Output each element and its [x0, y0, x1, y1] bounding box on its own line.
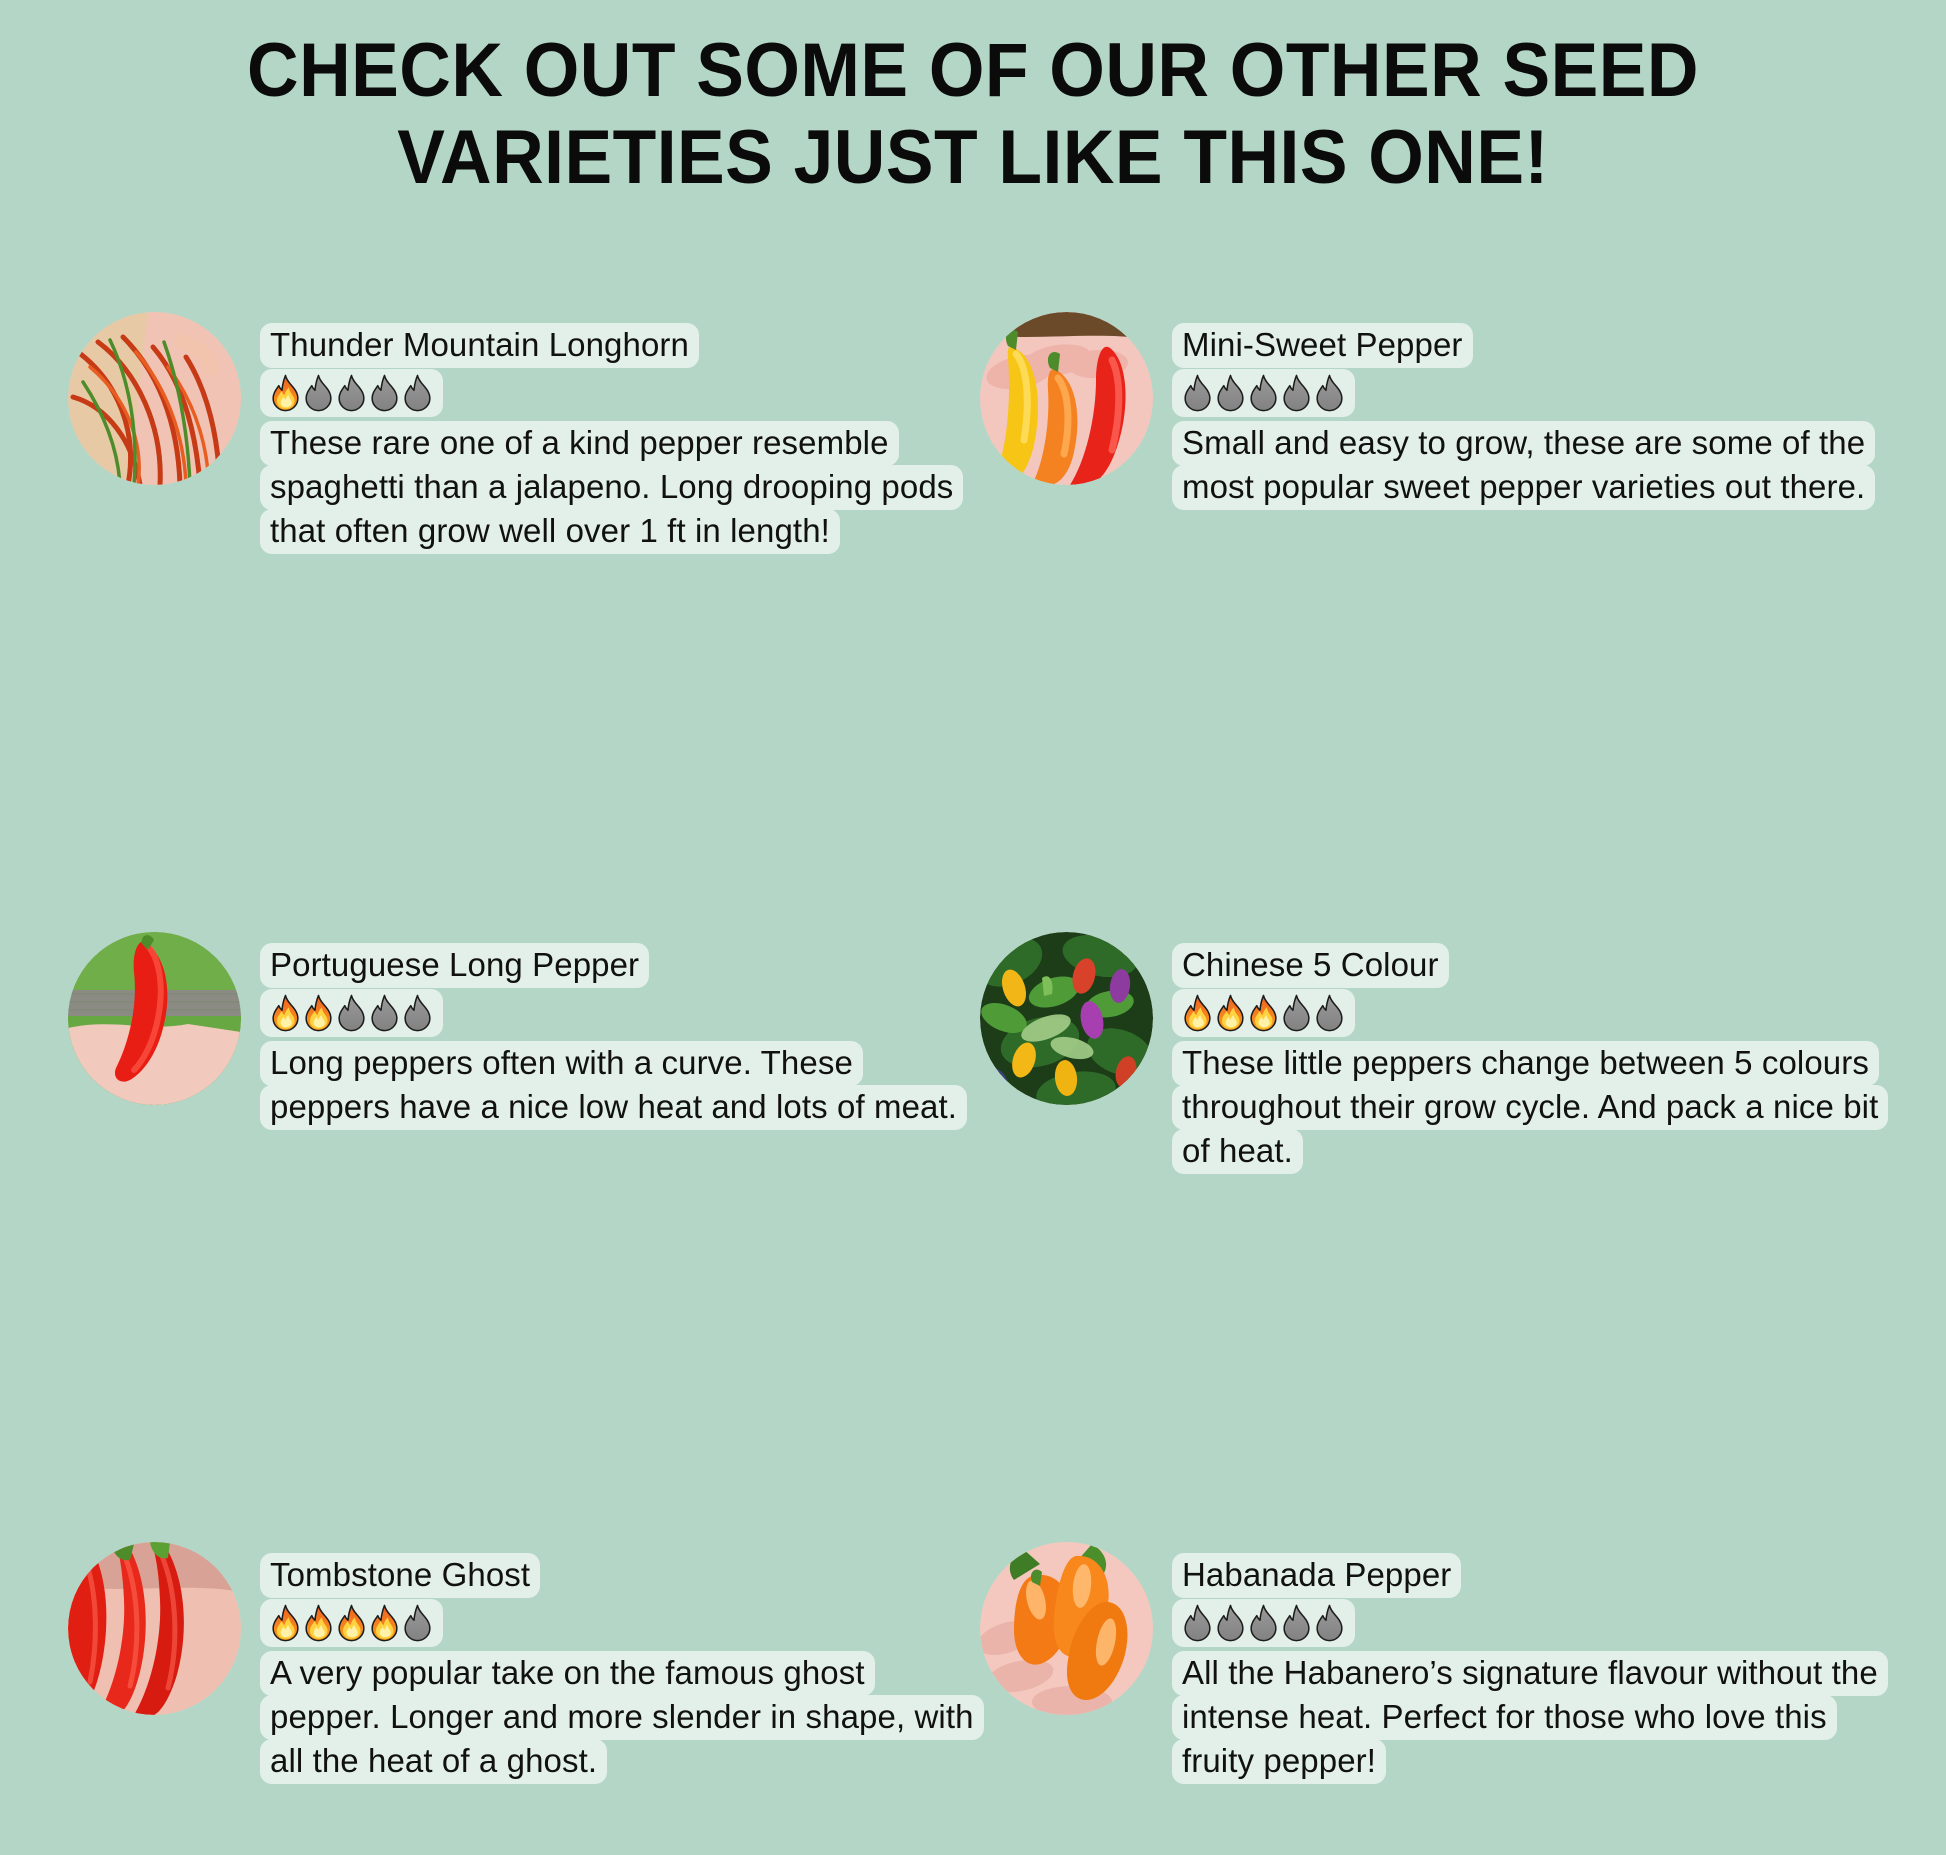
variety-column-right: Mini-Sweet Pepper Small and easy to grow…	[972, 295, 1902, 1285]
variety-name: Mini-Sweet Pepper	[1172, 323, 1892, 367]
variety-body: Tombstone Ghost A very popular take on t…	[260, 1553, 980, 1783]
heat-rating	[1172, 989, 1892, 1037]
flame-icon	[1313, 994, 1346, 1032]
page-title: CHECK OUT SOME OF OUR OTHER SEED VARIETI…	[58, 28, 1887, 201]
variety-thumbnail	[980, 932, 1153, 1105]
variety-card[interactable]: Chinese 5 Colour These little peppers ch…	[972, 915, 1902, 1245]
variety-description: Long peppers often with a curve. These p…	[260, 1041, 975, 1129]
variety-description: These rare one of a kind pepper resemble…	[260, 421, 975, 553]
variety-description: Small and easy to grow, these are some o…	[1172, 421, 1887, 509]
variety-description: All the Habanero’s signature flavour wit…	[1172, 1651, 1887, 1783]
flame-icon	[1247, 1604, 1280, 1642]
heat-rating	[260, 989, 980, 1037]
variety-body: Chinese 5 Colour These little peppers ch…	[1172, 943, 1892, 1173]
page-title-line-2: VARIETIES JUST LIKE THIS ONE!	[58, 115, 1887, 202]
flame-icon	[401, 994, 434, 1032]
variety-name: Chinese 5 Colour	[1172, 943, 1892, 987]
variety-card[interactable]: Habanada Pepper All the Habanero’s signa…	[972, 1525, 1902, 1855]
flame-icon	[1280, 374, 1313, 412]
flame-icon	[1280, 1604, 1313, 1642]
heat-rating	[1172, 1599, 1892, 1647]
variety-description: A very popular take on the famous ghost …	[260, 1651, 975, 1783]
flame-icon	[368, 374, 401, 412]
flame-icon	[1214, 1604, 1247, 1642]
page-title-line-1: CHECK OUT SOME OF OUR OTHER SEED	[58, 28, 1887, 115]
flame-icon	[368, 994, 401, 1032]
flame-icon	[1214, 994, 1247, 1032]
flame-icon	[335, 994, 368, 1032]
heat-rating	[260, 369, 980, 417]
flame-icon	[1214, 374, 1247, 412]
variety-card[interactable]: Thunder Mountain Longhorn These rare one…	[60, 295, 990, 625]
flame-icon	[269, 1604, 302, 1642]
variety-name: Thunder Mountain Longhorn	[260, 323, 980, 367]
flame-icon	[1313, 1604, 1346, 1642]
flame-icon	[302, 374, 335, 412]
flame-icon	[1280, 994, 1313, 1032]
variety-card[interactable]: Tombstone Ghost A very popular take on t…	[60, 1525, 990, 1855]
flame-icon	[1181, 1604, 1214, 1642]
flame-icon	[401, 1604, 434, 1642]
variety-name: Tombstone Ghost	[260, 1553, 980, 1597]
variety-column-left: Thunder Mountain Longhorn These rare one…	[60, 295, 990, 1285]
flame-icon	[1181, 994, 1214, 1032]
flame-icon	[335, 374, 368, 412]
flame-icon	[1313, 374, 1346, 412]
heat-rating	[260, 1599, 980, 1647]
variety-grid: Thunder Mountain Longhorn These rare one…	[0, 295, 1946, 1415]
variety-body: Portuguese Long Pepper Long peppers ofte…	[260, 943, 980, 1129]
flame-icon	[368, 1604, 401, 1642]
variety-card[interactable]: Mini-Sweet Pepper Small and easy to grow…	[972, 295, 1902, 625]
flame-icon	[1247, 374, 1280, 412]
flame-icon	[302, 1604, 335, 1642]
variety-card[interactable]: Portuguese Long Pepper Long peppers ofte…	[60, 915, 990, 1245]
flame-icon	[401, 374, 434, 412]
flame-icon	[1247, 994, 1280, 1032]
flame-icon	[302, 994, 335, 1032]
variety-thumbnail	[68, 1542, 241, 1715]
flame-icon	[269, 374, 302, 412]
variety-body: Habanada Pepper All the Habanero’s signa…	[1172, 1553, 1892, 1783]
flame-icon	[335, 1604, 368, 1642]
variety-name: Habanada Pepper	[1172, 1553, 1892, 1597]
variety-name: Portuguese Long Pepper	[260, 943, 980, 987]
variety-body: Mini-Sweet Pepper Small and easy to grow…	[1172, 323, 1892, 509]
variety-description: These little peppers change between 5 co…	[1172, 1041, 1887, 1173]
variety-thumbnail	[68, 312, 241, 485]
variety-thumbnail	[68, 932, 241, 1105]
variety-thumbnail	[980, 312, 1153, 485]
heat-rating	[1172, 369, 1892, 417]
variety-body: Thunder Mountain Longhorn These rare one…	[260, 323, 980, 553]
flame-icon	[1181, 374, 1214, 412]
variety-thumbnail	[980, 1542, 1153, 1715]
flame-icon	[269, 994, 302, 1032]
